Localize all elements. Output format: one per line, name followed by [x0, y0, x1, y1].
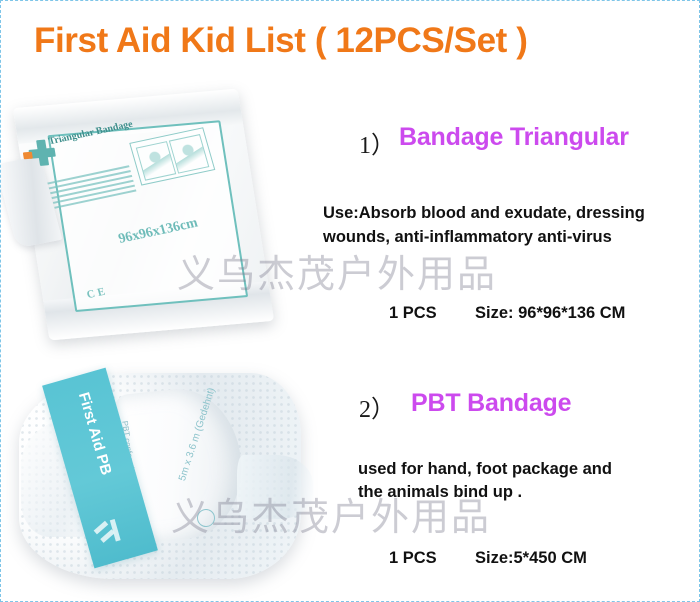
product-2-quantity: 1 PCS	[389, 549, 437, 568]
product-2-index: 2）	[359, 389, 395, 424]
product-1-index: 1）	[359, 125, 395, 160]
product-2-description-line-1: used for hand, foot package and	[358, 459, 612, 480]
product-1-quantity: 1 PCS	[389, 304, 437, 323]
product-2-size: Size:5*450 CM	[475, 549, 587, 568]
product-1-name: Bandage Triangular	[399, 123, 629, 152]
package-sealed-tail	[237, 455, 313, 519]
product-2-description-line-2: the animals bind up .	[358, 482, 522, 503]
package-brand-band-text: First Aid PB	[75, 390, 115, 477]
product-1-description-line-2: wounds, anti-inflammatory anti-virus	[323, 227, 612, 248]
product-1-description-line-1: Use:Absorb blood and exudate, dressing	[323, 203, 645, 224]
triangular-bandage-package: Triangular Bandage 96x96x136cm CE	[13, 89, 274, 341]
product-image-pbt-bandage: PBT conforming bandage First Aid PB 5m x…	[9, 359, 319, 597]
product-2-name: PBT Bandage	[411, 389, 571, 418]
product-image-bandage-triangular: Triangular Bandage 96x96x136cm CE	[13, 89, 313, 347]
product-1-size: Size: 96*96*136 CM	[475, 304, 625, 323]
product-listing-page: First Aid Kid List ( 12PCS/Set ) Triangu…	[0, 0, 700, 602]
page-title: First Aid Kid List ( 12PCS/Set )	[34, 21, 527, 61]
brand-logo-icon	[92, 514, 133, 552]
